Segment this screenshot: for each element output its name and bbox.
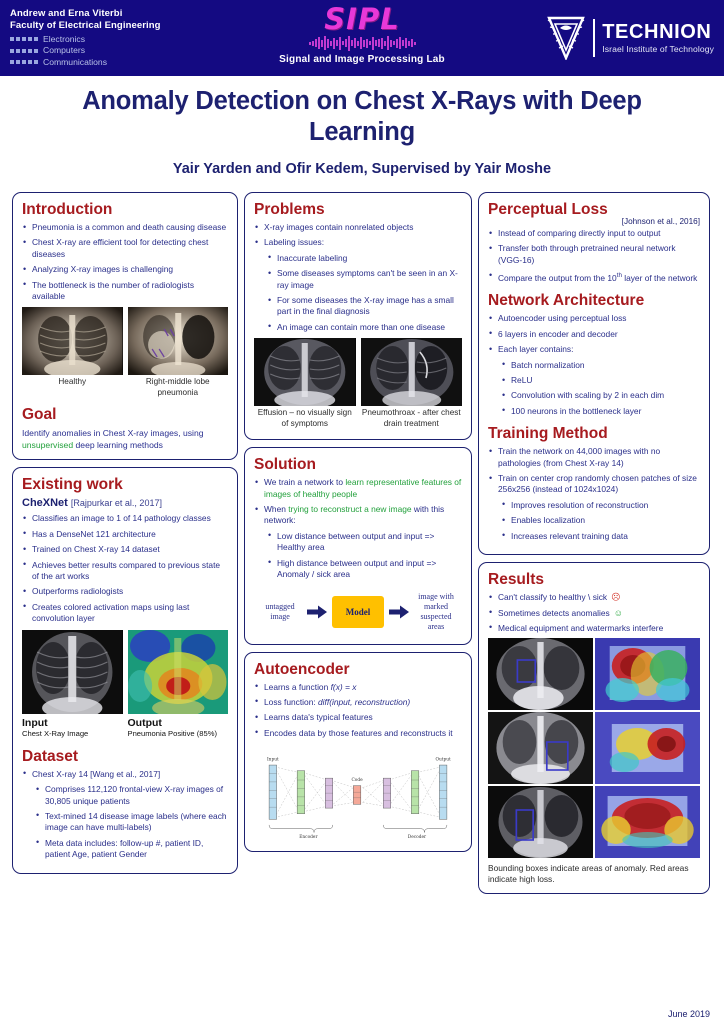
model-box: Model (332, 596, 384, 628)
list-item: Inaccurate labeling (266, 253, 462, 264)
section-heading-network-architecture: Network Architecture (488, 291, 700, 310)
list-item: Encodes data by those features and recon… (254, 728, 462, 739)
input-sublabel: Chest X-Ray Image (22, 729, 123, 738)
list-item: Sometimes detects anomalies☺ (488, 608, 700, 619)
column-right: Perceptual Loss [Johnson et al., 2016] I… (478, 192, 710, 894)
ae-code-label: Code (351, 778, 363, 783)
list-item: X-ray images contain nonrelated objects (254, 222, 462, 233)
problems-sub-bullets: Inaccurate labeling Some diseases sympto… (266, 253, 462, 333)
poster-root: Andrew and Erna Viterbi Faculty of Elect… (0, 0, 724, 1024)
list-item: Meta data includes: follow-up #, patient… (34, 838, 228, 861)
model-flow-diagram: untagged image Model image with marked s… (254, 585, 462, 636)
results-image-grid (488, 638, 700, 858)
chexnet-input-image (22, 630, 123, 714)
list-item: Low distance between output and input =>… (266, 531, 462, 554)
card-results: Results Can't classify to healthy \ sick… (478, 562, 710, 894)
list-item: Train on center crop randomly chosen pat… (488, 473, 700, 496)
card-introduction: Introduction Pneumonia is a common and d… (12, 192, 238, 460)
list-item: Increases relevant training data (500, 531, 700, 542)
arrow-right-icon (389, 605, 409, 619)
page-title: Anomaly Detection on Chest X-Rays with D… (30, 86, 694, 148)
list-item: Has a DenseNet 121 architecture (22, 529, 228, 540)
solution-sub-bullets: Low distance between output and input =>… (266, 531, 462, 581)
card-autoencoder: Autoencoder Learns a function f(x) = x L… (244, 652, 472, 853)
institution-name: TECHNION (602, 22, 714, 43)
ae-formula: f(x) = x (331, 682, 357, 692)
list-item: For some diseases the X-ray image has a … (266, 295, 462, 318)
ae-encoder-label: Encoder (299, 835, 318, 840)
section-heading-existing-work: Existing work (22, 475, 228, 494)
existing-work-subhead: CheXNet [Rajpurkar et al., 2017] (22, 497, 228, 509)
list-item: Learns data's typical features (254, 712, 462, 723)
output-sublabel: Pneumonia Positive (85%) (128, 729, 229, 738)
card-perceptual-loss: Perceptual Loss [Johnson et al., 2016] I… (478, 192, 710, 555)
list-item: Convolution with scaling by 2 in each di… (500, 390, 700, 401)
list-item: Pneumonia is a common and death causing … (22, 222, 228, 233)
logo-divider (593, 19, 595, 57)
dataset-sub-bullets: Comprises 112,120 frontal-view X-ray ima… (34, 784, 228, 860)
section-heading-results: Results (488, 570, 700, 589)
result-xray-1 (488, 638, 593, 710)
list-item: Creates colored activation maps using la… (22, 602, 228, 625)
results-caption: Bounding boxes indicate areas of anomaly… (488, 863, 700, 885)
technion-seal-icon (546, 16, 586, 60)
list-item: Train the network on 44,000 images with … (488, 446, 700, 469)
list-item: Text-mined 14 disease image labels (wher… (34, 811, 228, 834)
introduction-bullets: Pneumonia is a common and death causing … (22, 222, 228, 302)
xray-effusion-image (254, 338, 356, 406)
list-item: Compare the output from the 10th layer o… (488, 270, 700, 284)
list-item: Labeling issues: (254, 237, 462, 248)
list-item: Comprises 112,120 frontal-view X-ray ima… (34, 784, 228, 807)
solution-b2-highlight: trying to reconstruct a new image (288, 504, 411, 514)
arrow-right-icon (307, 605, 327, 619)
list-item: Trained on Chest X-ray 14 dataset (22, 544, 228, 555)
training-method-sub-bullets: Improves resolution of reconstruction En… (500, 500, 700, 542)
section-heading-solution: Solution (254, 455, 462, 474)
existing-work-bullets: Classifies an image to 1 of 14 pathology… (22, 513, 228, 624)
goal-text-highlight: unsupervised (22, 440, 73, 450)
poster-header: Andrew and Erna Viterbi Faculty of Elect… (0, 0, 724, 76)
technion-logo-block: TECHNION Israel Institute of Technology (546, 16, 714, 60)
list-item: Each layer contains: (488, 344, 700, 355)
goal-text-after: deep learning methods (73, 440, 163, 450)
sad-face-icon: ☹ (611, 592, 620, 602)
chexnet-io-pair (22, 630, 228, 714)
dataset-bullets: Chest X-ray 14 [Wang et al., 2017] (22, 769, 228, 780)
autoencoder-bullets: Learns a function f(x) = x Loss function… (254, 682, 462, 740)
list-item: Transfer both through pretrained neural … (488, 243, 700, 266)
solution-bullets: We train a network to learn representati… (254, 477, 462, 527)
list-item: 6 layers in encoder and decoder (488, 329, 700, 340)
result-heatmap-2 (595, 712, 700, 784)
image-caption: Pneumothroax - after chest drain treatme… (361, 408, 463, 429)
title-block: Anomaly Detection on Chest X-Rays with D… (0, 76, 724, 183)
network-architecture-bullets: Autoencoder using perceptual loss 6 laye… (488, 313, 700, 355)
solution-b2-pre: When (264, 504, 288, 514)
card-solution: Solution We train a network to learn rep… (244, 447, 472, 644)
image-caption: Effusion – no visually sign of symptoms (254, 408, 356, 429)
section-heading-goal: Goal (22, 405, 228, 424)
problems-xray-pair: Effusion – no visually sign of symptoms (254, 338, 462, 429)
list-item: Analyzing X-ray images is challenging (22, 264, 228, 275)
column-left: Introduction Pneumonia is a common and d… (12, 192, 238, 894)
ae-text: Learns a function (264, 682, 331, 692)
autoencoder-diagram: Input Code Output Encoder Decoder (254, 743, 462, 843)
list-item: Batch normalization (500, 360, 700, 371)
image-caption: Right-middle lobe pneumonia (128, 377, 229, 398)
result-xray-2 (488, 712, 593, 784)
flow-input-label: untagged image (258, 602, 302, 622)
institution-tagline: Israel Institute of Technology (602, 44, 714, 54)
list-item: Classifies an image to 1 of 14 pathology… (22, 513, 228, 524)
result-heatmap-1 (595, 638, 700, 710)
result-xray-3 (488, 786, 593, 858)
section-heading-problems: Problems (254, 200, 462, 219)
pl-b3-pre: Compare the output from the 10 (498, 273, 617, 283)
list-item: Medical equipment and watermarks interfe… (488, 623, 700, 634)
ae-input-label: Input (267, 758, 279, 763)
result-text: Can't classify to healthy \ sick (498, 592, 607, 602)
result-text: Sometimes detects anomalies (498, 608, 610, 618)
perceptual-loss-bullets: Instead of comparing directly input to o… (488, 228, 700, 284)
list-item: Instead of comparing directly input to o… (488, 228, 700, 239)
results-bullets: Can't classify to healthy \ sick☹ Someti… (488, 592, 700, 634)
input-label: Input (22, 717, 123, 729)
training-method-bullets: Train the network on 44,000 images with … (488, 446, 700, 496)
list-item: We train a network to learn representati… (254, 477, 462, 500)
solution-b1-pre: We train a network to (264, 477, 345, 487)
chexnet-output-heatmap (128, 630, 229, 714)
card-existing-work: Existing work CheXNet [Rajpurkar et al.,… (12, 467, 238, 873)
network-architecture-sub-bullets: Batch normalization ReLU Convolution wit… (500, 360, 700, 418)
goal-text-before: Identify anomalies in Chest X-ray images… (22, 428, 204, 438)
problems-bullets: X-ray images contain nonrelated objects … (254, 222, 462, 249)
goal-text: Identify anomalies in Chest X-ray images… (22, 427, 228, 451)
footer-date: June 2019 (668, 1009, 710, 1019)
sipl-wordmark: SIPL (324, 4, 399, 34)
ae-text: Loss function: (264, 697, 318, 707)
list-item: Achieves better results compared to prev… (22, 560, 228, 583)
list-item: Improves resolution of reconstruction (500, 500, 700, 511)
column-middle: Problems X-ray images contain nonrelated… (244, 192, 472, 894)
chexnet-label: CheXNet (22, 497, 68, 509)
ae-formula: diff(input, reconstruction) (318, 697, 410, 707)
list-item: Chest X-ray 14 [Wang et al., 2017] (22, 769, 228, 780)
output-label: Output (128, 717, 229, 729)
list-item: When trying to reconstruct a new image w… (254, 504, 462, 527)
list-item: Some diseases symptoms can't be seen in … (266, 268, 462, 291)
waveform-icon (309, 35, 416, 51)
xray-pneumothorax-image (361, 338, 463, 406)
list-item: Can't classify to healthy \ sick☹ (488, 592, 700, 603)
pl-b3-post: layer of the network (622, 273, 697, 283)
happy-face-icon: ☺ (614, 608, 623, 618)
list-item: Learns a function f(x) = x (254, 682, 462, 693)
list-item: The bottleneck is the number of radiolog… (22, 280, 228, 303)
list-item: Autoencoder using perceptual loss (488, 313, 700, 324)
card-problems: Problems X-ray images contain nonrelated… (244, 192, 472, 440)
list-item: Loss function: diff(input, reconstructio… (254, 697, 462, 708)
list-item: Chest X-ray are efficient tool for detec… (22, 237, 228, 260)
chexnet-citation: [Rajpurkar et al., 2017] (71, 498, 162, 508)
section-heading-training-method: Training Method (488, 424, 700, 443)
list-item: Outperforms radiologists (22, 586, 228, 597)
list-item: 100 neurons in the bottleneck layer (500, 406, 700, 417)
section-heading-autoencoder: Autoencoder (254, 660, 462, 679)
image-caption: Healthy (22, 377, 123, 388)
list-item: Enables localization (500, 515, 700, 526)
introduction-xray-pair: Healthy (22, 307, 228, 398)
authors-line: Yair Yarden and Ofir Kedem, Supervised b… (30, 161, 694, 177)
poster-columns: Introduction Pneumonia is a common and d… (0, 192, 724, 894)
section-heading-introduction: Introduction (22, 200, 228, 219)
flow-output-label: image with marked suspected areas (414, 592, 458, 632)
section-heading-dataset: Dataset (22, 747, 228, 766)
list-item: ReLU (500, 375, 700, 386)
ae-decoder-label: Decoder (408, 835, 427, 840)
xray-pneumonia-image (128, 307, 229, 375)
result-heatmap-3 (595, 786, 700, 858)
ae-output-label: Output (436, 758, 452, 763)
xray-healthy-image (22, 307, 123, 375)
lab-name: Signal and Image Processing Lab (279, 54, 445, 65)
list-item: High distance between output and input =… (266, 558, 462, 581)
list-item: An image can contain more than one disea… (266, 322, 462, 333)
